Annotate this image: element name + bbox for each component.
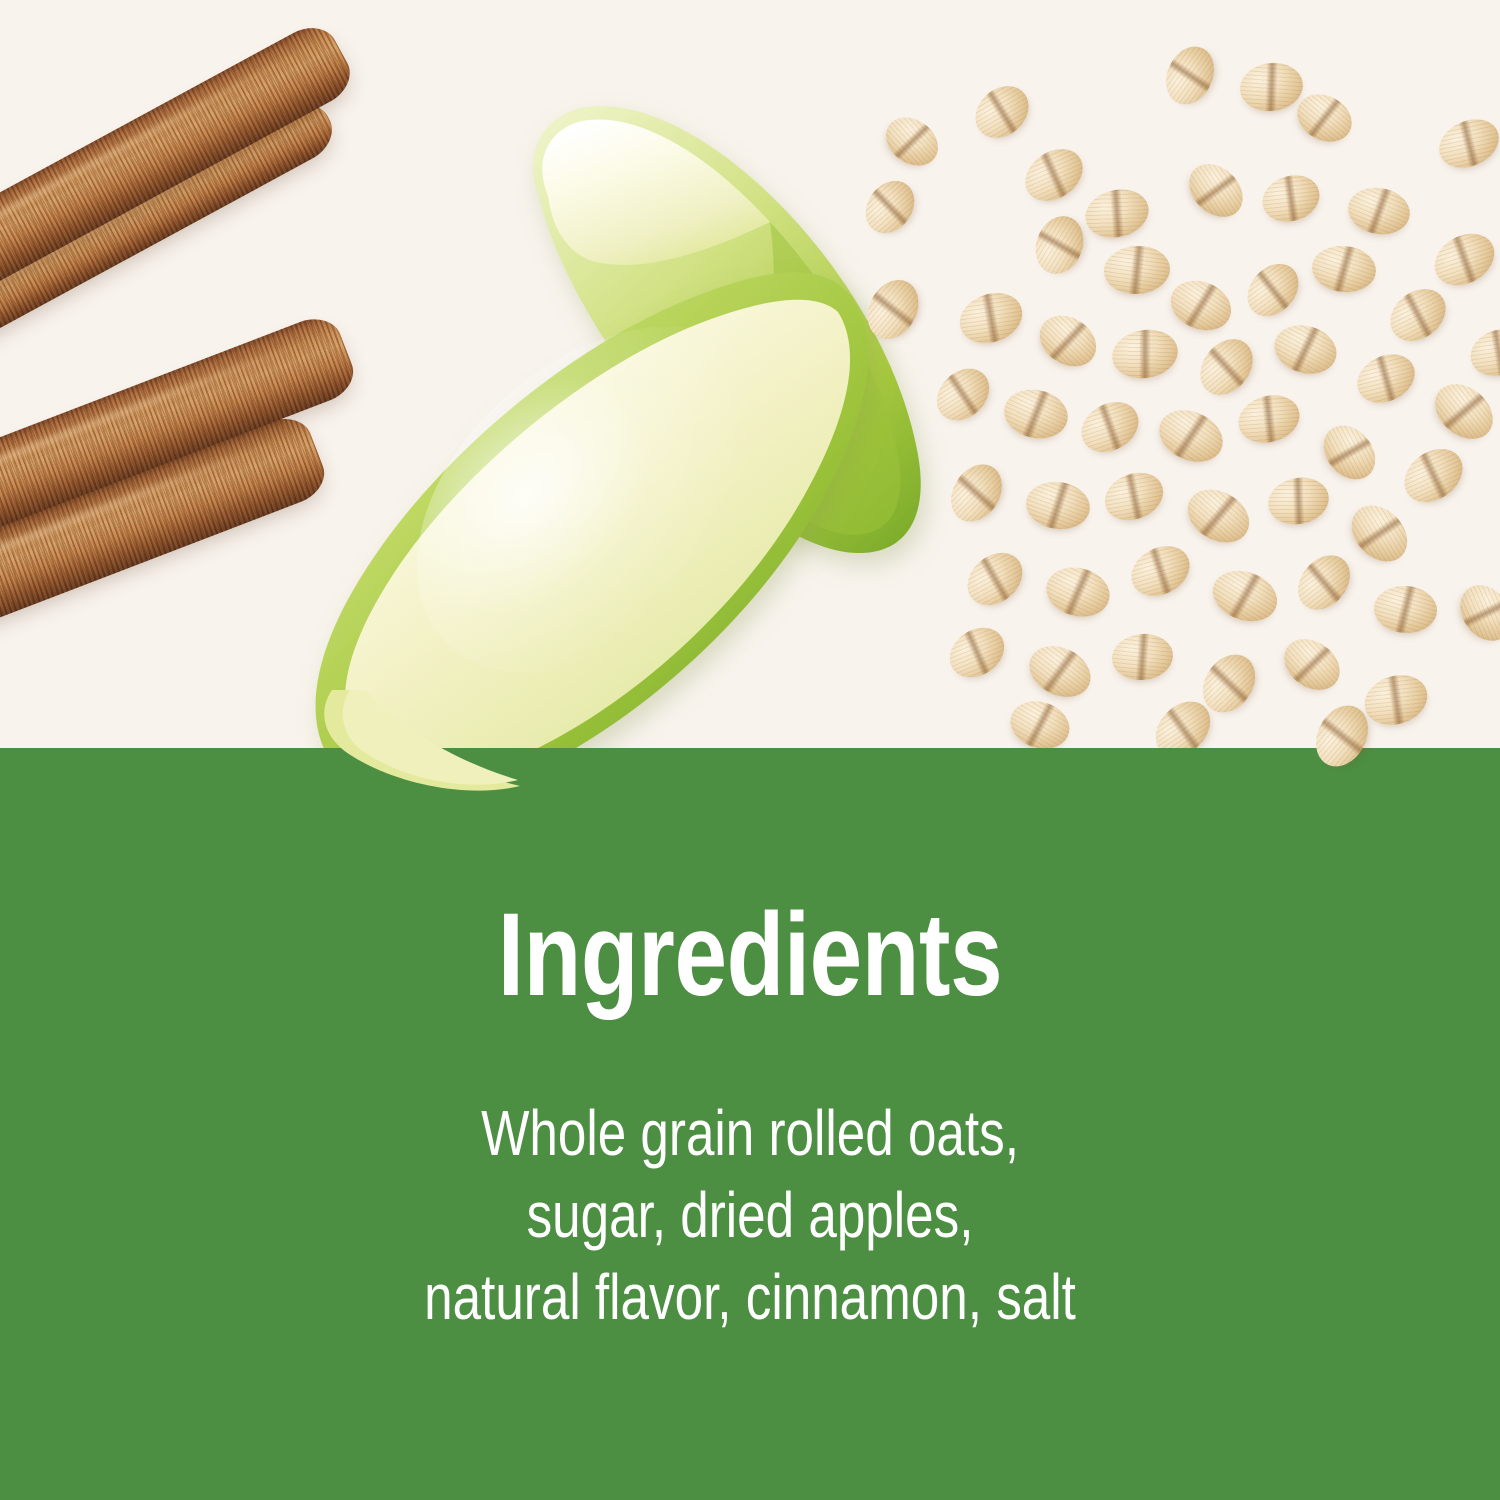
ingredients-text: Whole grain rolled oats, sugar, dried ap… (0, 1092, 1500, 1338)
apple-slice-front (316, 257, 868, 748)
page-title: Ingredients (150, 896, 1350, 1014)
ingredients-line: natural flavor, cinnamon, salt (150, 1256, 1350, 1338)
product-ingredients-panel: Ingredients Whole grain rolled oats, sug… (0, 0, 1500, 1500)
apple-slice-group (0, 0, 1500, 748)
ingredients-line: sugar, dried apples, (150, 1174, 1350, 1256)
ingredient-photo (0, 0, 1500, 748)
apple-slice-overlap (280, 700, 700, 810)
ingredients-line: Whole grain rolled oats, (150, 1092, 1350, 1174)
